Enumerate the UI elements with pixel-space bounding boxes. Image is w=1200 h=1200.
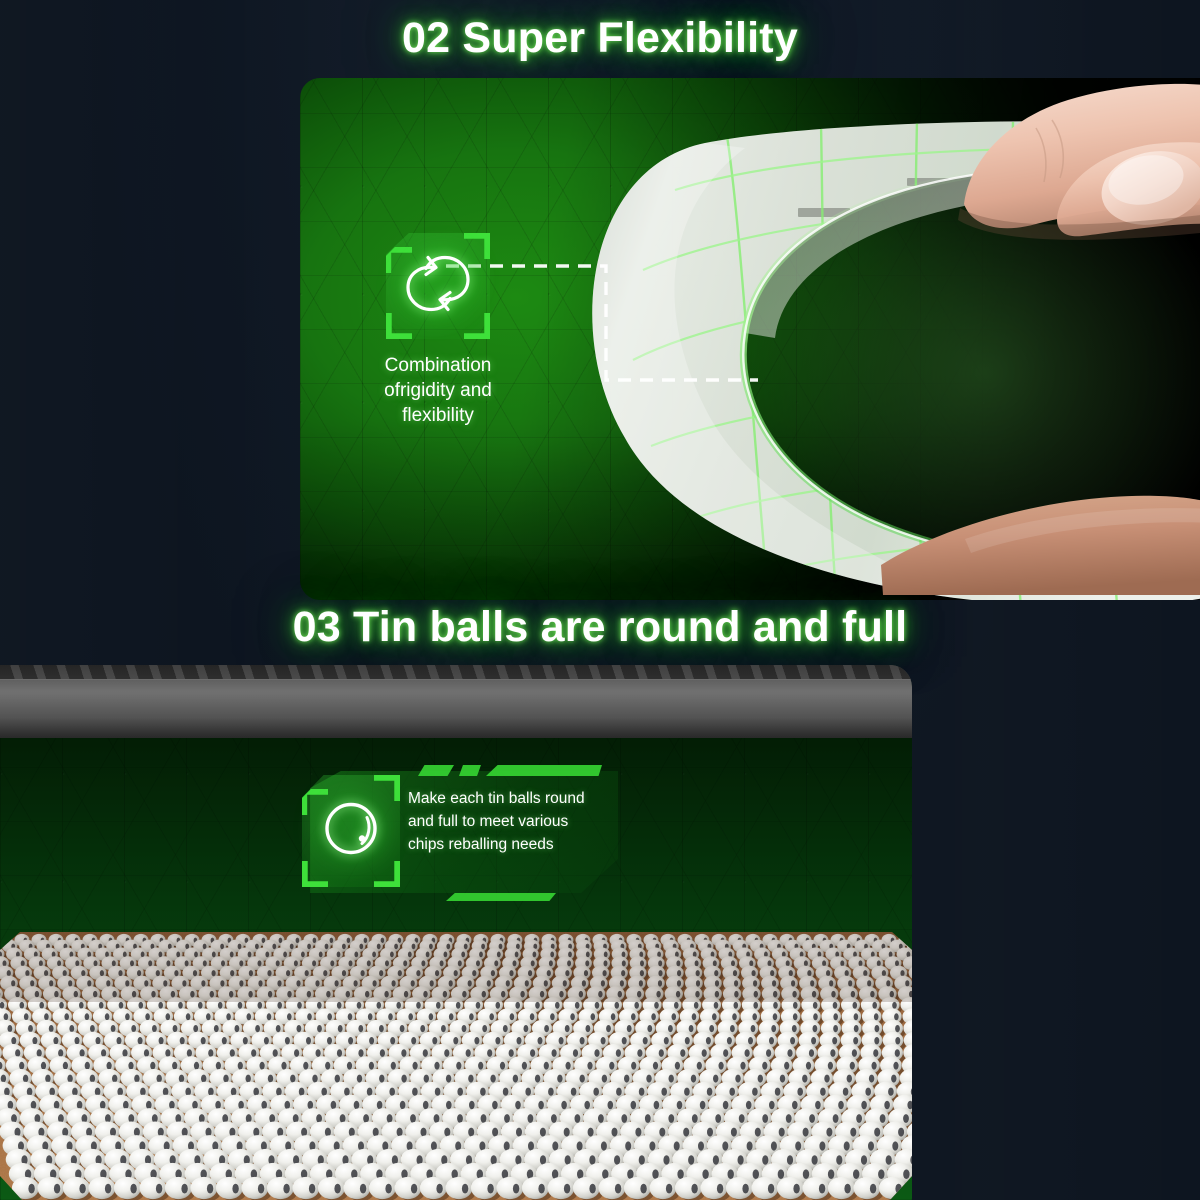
tin-ball-badge	[302, 775, 400, 887]
callout-accent-d	[446, 893, 556, 901]
substrate-top-bar	[0, 665, 912, 738]
flexibility-badge	[386, 233, 490, 339]
heading-tin-balls: 03 Tin balls are round and full	[0, 601, 1200, 653]
finger-top	[940, 78, 1200, 292]
flexibility-loop-icon	[400, 248, 476, 325]
callout-accent-c	[486, 765, 602, 776]
panel-super-flexibility: Combination ofrigidity and flexibility	[300, 78, 1200, 600]
tin-ball-callout-text: Make each tin balls round and full to me…	[408, 787, 608, 856]
panel-tin-balls: Make each tin balls round and full to me…	[0, 665, 912, 1200]
bar-shading	[0, 665, 912, 738]
solder-ball-array	[0, 932, 912, 1200]
tin-ball-circle-icon	[320, 798, 382, 865]
tin-ball-callout: Make each tin balls round and full to me…	[296, 765, 618, 900]
flexible-stencil-image	[555, 108, 1200, 600]
flexibility-caption: Combination ofrigidity and flexibility	[338, 353, 538, 428]
flexibility-info-block: Combination ofrigidity and flexibility	[338, 233, 538, 428]
finger-bottom	[875, 473, 1200, 600]
heading-super-flexibility: 02 Super Flexibility	[0, 12, 1200, 64]
